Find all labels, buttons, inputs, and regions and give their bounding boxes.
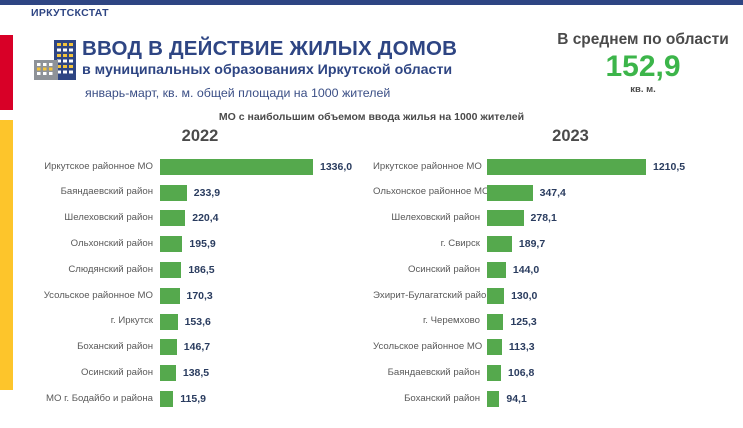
bar	[487, 339, 502, 355]
bar-value-label: 189,7	[512, 238, 545, 250]
bar-value-label: 144,0	[506, 264, 539, 276]
bar-value-label: 146,7	[177, 341, 210, 353]
bar	[487, 236, 512, 252]
bar-track: 220,4	[160, 210, 370, 226]
chart-title-2022: 2022	[20, 126, 370, 150]
bar-value-label: 233,9	[187, 187, 220, 199]
bar-category-label: МО г. Бодайбо и района	[20, 394, 160, 405]
bar-category-label: Усольское районное МО	[373, 342, 487, 353]
bar-category-label: Шелеховский район	[373, 213, 487, 224]
bar-track: 347,4	[487, 185, 728, 201]
section-note: МО с наибольшим объемом ввода жилья на 1…	[0, 111, 743, 123]
page-note: январь-март, кв. м. общей площади на 100…	[82, 86, 532, 100]
bar-row: Осинский район138,5	[20, 360, 370, 386]
bar-category-label: Ольхонский район	[20, 239, 160, 250]
bar-value-label: 1210,5	[646, 161, 685, 173]
bar-category-label: г. Черемхово	[373, 316, 487, 327]
bar-category-label: Эхирит-Булагатский район	[373, 291, 487, 302]
bar-value-label: 195,9	[182, 238, 215, 250]
bar	[487, 365, 501, 381]
bar-row: Боханский район146,7	[20, 335, 370, 361]
bar-value-label: 130,0	[504, 290, 537, 302]
bar-row: Баяндаевский район106,8	[373, 360, 728, 386]
accent-strip-yellow	[0, 120, 13, 390]
bar	[160, 365, 176, 381]
bar-value-label: 1336,0	[313, 161, 352, 173]
bar-track: 189,7	[487, 236, 728, 252]
bar-category-label: Баяндаевский район	[373, 368, 487, 379]
bar-value-label: 347,4	[533, 187, 566, 199]
bar-row: г. Свирск189,7	[373, 231, 728, 257]
bar-row: Шелеховский район278,1	[373, 206, 728, 232]
bar	[487, 185, 533, 201]
bar	[487, 391, 499, 407]
bar-category-label: Боханский район	[373, 394, 487, 405]
bar-track: 113,3	[487, 339, 728, 355]
bar-category-label: Иркутское районное МО	[373, 162, 487, 173]
accent-strip-red	[0, 35, 13, 110]
bar	[487, 262, 506, 278]
bar	[160, 314, 178, 330]
bar	[160, 236, 182, 252]
bar	[160, 185, 187, 201]
bar-row: г. Черемхово125,3	[373, 309, 728, 335]
bar-track: 146,7	[160, 339, 370, 355]
bar-row: Иркутское районное МО1210,5	[373, 154, 728, 180]
title-block: ВВОД В ДЕЙСТВИЕ ЖИЛЫХ ДОМОВ в муниципаль…	[82, 38, 532, 100]
bar-category-label: Осинский район	[20, 368, 160, 379]
bar-row: Усольское районное МО113,3	[373, 335, 728, 361]
building-icon	[32, 38, 78, 86]
bar-category-label: Иркутское районное МО	[20, 162, 160, 173]
bar-category-label: Боханский район	[20, 342, 160, 353]
bar-row: Ольхонское районное МО347,4	[373, 180, 728, 206]
bar-row: г. Иркутск153,6	[20, 309, 370, 335]
bar-track: 1336,0	[160, 159, 370, 175]
chart-panel-2023: 2023 Иркутское районное МО1210,5Ольхонск…	[373, 126, 728, 412]
bar-track: 1210,5	[487, 159, 728, 175]
bar-value-label: 138,5	[176, 367, 209, 379]
page-subtitle: в муниципальных образованиях Иркутской о…	[82, 62, 532, 80]
chart-rows-2022: Иркутское районное МО1336,0Баяндаевский …	[20, 154, 370, 412]
bar-row: Ольхонский район195,9	[20, 231, 370, 257]
chart-panel-2022: 2022 Иркутское районное МО1336,0Баяндаев…	[20, 126, 370, 412]
region-average-integer: 152	[605, 50, 655, 83]
bar-row: Баяндаевский район233,9	[20, 180, 370, 206]
region-average-value: 152,9	[545, 51, 741, 83]
bar-track: 153,6	[160, 314, 370, 330]
bar-category-label: Усольское районное МО	[20, 291, 160, 302]
bar	[160, 391, 173, 407]
bar-track: 144,0	[487, 262, 728, 278]
bar-category-label: г. Свирск	[373, 239, 487, 250]
page-title: ВВОД В ДЕЙСТВИЕ ЖИЛЫХ ДОМОВ	[82, 38, 532, 61]
bar	[160, 159, 313, 175]
bar-category-label: Слюдянский район	[20, 265, 160, 276]
bar	[487, 159, 646, 175]
bar-track: 130,0	[487, 288, 728, 304]
bar-track: 186,5	[160, 262, 370, 278]
top-accent-bar	[0, 0, 743, 5]
bar-row: Усольское районное МО170,3	[20, 283, 370, 309]
bar-row: Слюдянский район186,5	[20, 257, 370, 283]
bar-track: 170,3	[160, 288, 370, 304]
bar-category-label: Баяндаевский район	[20, 187, 160, 198]
bar-value-label: 115,9	[173, 393, 206, 405]
bar-track: 195,9	[160, 236, 370, 252]
bar-track: 278,1	[487, 210, 728, 226]
bar-value-label: 94,1	[499, 393, 526, 405]
bar	[160, 262, 181, 278]
bar-value-label: 220,4	[185, 212, 218, 224]
bar-category-label: Шелеховский район	[20, 213, 160, 224]
bar-track: 106,8	[487, 365, 728, 381]
bar-track: 233,9	[160, 185, 370, 201]
bar-track: 115,9	[160, 391, 370, 407]
region-average-units: кв. м.	[545, 84, 741, 95]
bar-track: 125,3	[487, 314, 728, 330]
bar-value-label: 106,8	[501, 367, 534, 379]
region-average-box: В среднем по области 152,9 кв. м.	[545, 31, 741, 95]
bar-category-label: г. Иркутск	[20, 316, 160, 327]
bar-value-label: 186,5	[181, 264, 214, 276]
chart-title-2023: 2023	[373, 126, 728, 150]
bar-row: Шелеховский район220,4	[20, 206, 370, 232]
chart-rows-2023: Иркутское районное МО1210,5Ольхонское ра…	[373, 154, 728, 412]
bar-category-label: Осинский район	[373, 265, 487, 276]
bar-track: 138,5	[160, 365, 370, 381]
bar-value-label: 113,3	[502, 341, 535, 353]
bar-value-label: 153,6	[178, 316, 211, 328]
bar	[160, 288, 180, 304]
region-average-decimal: ,9	[656, 50, 681, 83]
bar-track: 94,1	[487, 391, 728, 407]
bar-row: Иркутское районное МО1336,0	[20, 154, 370, 180]
region-average-label: В среднем по области	[545, 31, 741, 49]
bar	[487, 210, 524, 226]
brand-label: ИРКУТСКСТАТ	[31, 7, 109, 19]
bar-row: Осинский район144,0	[373, 257, 728, 283]
bar-category-label: Ольхонское районное МО	[373, 187, 487, 198]
bar	[160, 339, 177, 355]
bar-value-label: 170,3	[180, 290, 213, 302]
bar	[487, 288, 504, 304]
bar-value-label: 278,1	[524, 212, 557, 224]
bar-row: Эхирит-Булагатский район130,0	[373, 283, 728, 309]
bar	[160, 210, 185, 226]
bar	[487, 314, 503, 330]
bar-row: Боханский район94,1	[373, 386, 728, 412]
bar-row: МО г. Бодайбо и района115,9	[20, 386, 370, 412]
bar-value-label: 125,3	[503, 316, 536, 328]
